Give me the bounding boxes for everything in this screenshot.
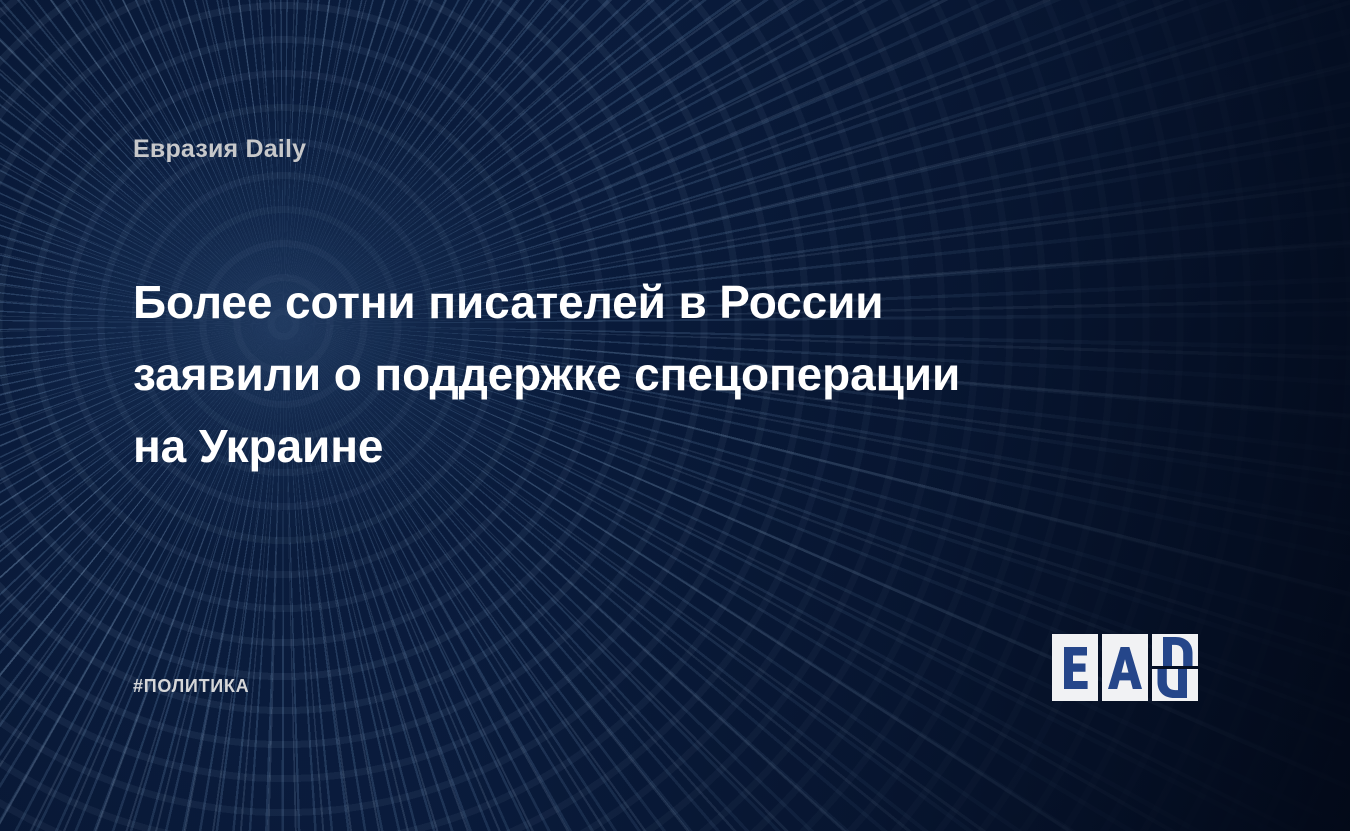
- category-tag: #ПОЛИТИКА: [133, 676, 249, 697]
- eadaily-logo: [1052, 634, 1198, 701]
- news-share-card: Евразия Daily Более сотни писателей в Ро…: [0, 0, 1350, 831]
- headline-line-3: на Украине: [133, 410, 1143, 482]
- letter-d-upper-icon: [1152, 634, 1198, 666]
- card-content: Евразия Daily Более сотни писателей в Ро…: [0, 0, 1350, 831]
- logo-tile-d-bottom: [1152, 669, 1198, 701]
- logo-tile-d-top: [1152, 634, 1198, 666]
- letter-a-icon: [1102, 634, 1148, 701]
- headline-line-1: Более сотни писателей в России: [133, 266, 1143, 338]
- logo-tile-e: [1052, 634, 1098, 701]
- headline-line-2: заявили о поддержке спецоперации: [133, 338, 1143, 410]
- logo-tile-d: [1152, 634, 1198, 701]
- letter-e-icon: [1052, 634, 1098, 701]
- headline: Более сотни писателей в России заявили о…: [133, 266, 1143, 482]
- letter-d-lower-icon: [1152, 669, 1198, 701]
- publication-masthead: Евразия Daily: [133, 135, 306, 164]
- logo-tile-a: [1102, 634, 1148, 701]
